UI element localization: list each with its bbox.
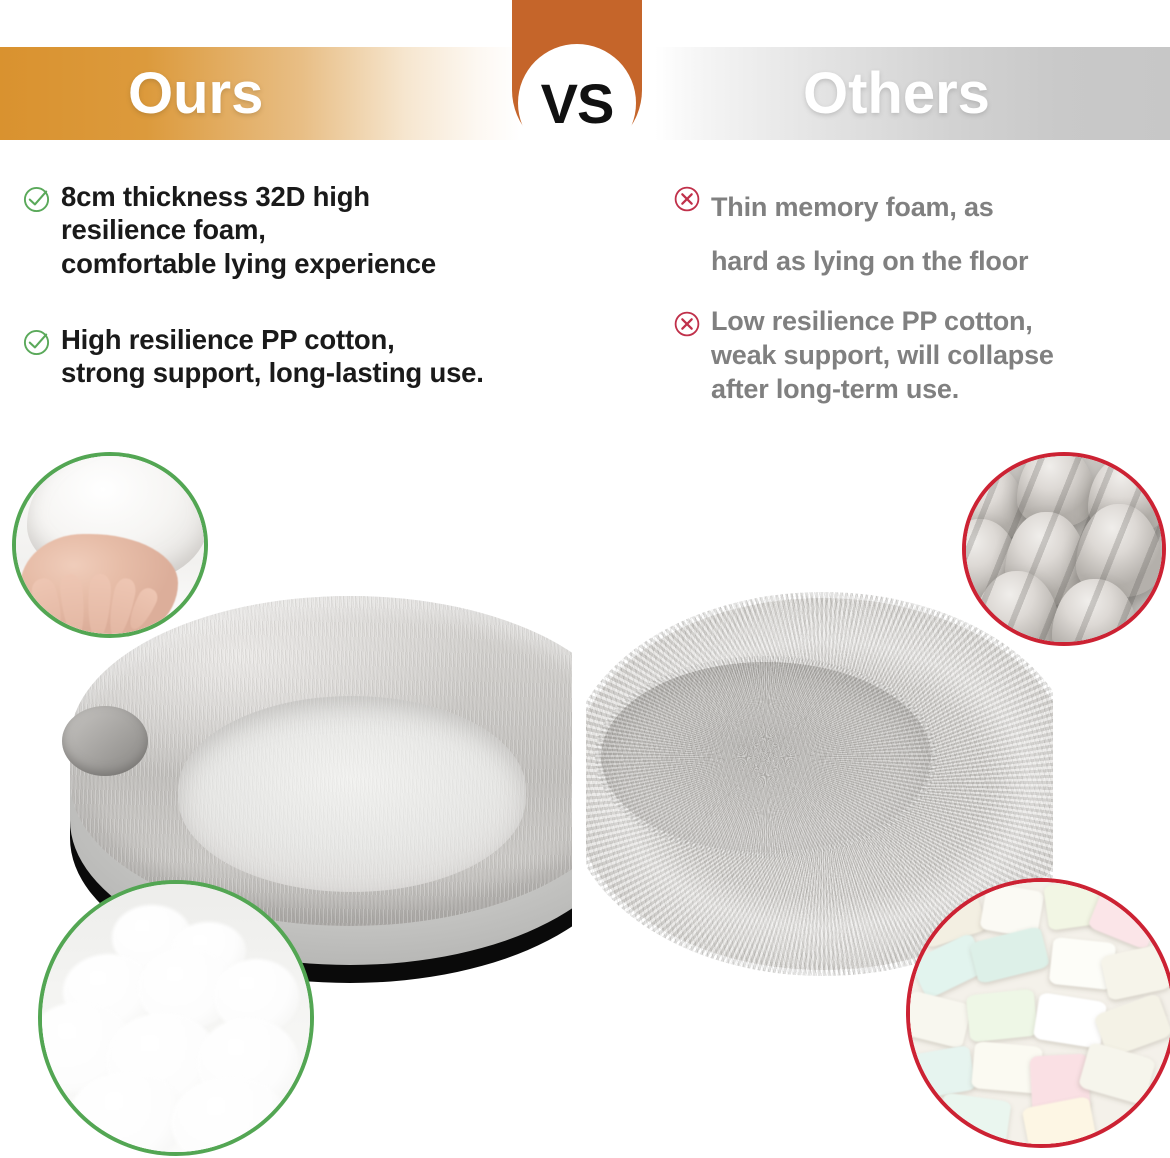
- ours-label: Ours: [128, 47, 263, 140]
- foam-chunk: [939, 1092, 1012, 1143]
- x-circle-icon: [672, 184, 702, 214]
- hand-shape: [20, 534, 178, 638]
- pros-list: 8cm thickness 32D high resilience foam, …: [22, 180, 642, 389]
- pro-bullet-2: High resilience PP cotton, strong suppor…: [22, 323, 642, 390]
- inset-pp-cotton-fluff: [38, 880, 314, 1156]
- check-circle-icon: [22, 327, 52, 357]
- con-bullet-1-text: Thin memory foam, as hard as lying on th…: [711, 180, 1028, 288]
- ours-banner: Ours: [0, 47, 520, 140]
- con-bullet-1: Thin memory foam, as hard as lying on th…: [672, 180, 1170, 288]
- inset-hand-pressing-foam: [12, 452, 208, 638]
- center-fur-texture: [595, 656, 937, 858]
- inset-egg-crate-foam: [962, 452, 1166, 646]
- bed-cushion-center: [178, 696, 526, 892]
- others-banner: Others: [655, 47, 1170, 140]
- finger: [86, 573, 112, 638]
- cons-spacer: [672, 288, 1170, 305]
- inset-foam-chunks: [906, 878, 1170, 1148]
- finger: [59, 573, 88, 638]
- cotton-puff: [69, 1072, 187, 1156]
- check-circle-icon: [22, 184, 52, 214]
- others-label: Others: [803, 47, 990, 140]
- product-comparison-infographic: Ours Others VS 8cm thickness 32D high re…: [0, 0, 1170, 1158]
- bolster-end-knot: [62, 706, 148, 776]
- cons-list: Thin memory foam, as hard as lying on th…: [672, 180, 1170, 406]
- pro-bullet-2-text: High resilience PP cotton, strong suppor…: [61, 323, 484, 390]
- con-bullet-2: Low resilience PP cotton, weak support, …: [672, 305, 1170, 406]
- pros-spacer: [22, 280, 642, 323]
- cushion-texture: [178, 696, 526, 892]
- con-bullet-2-text: Low resilience PP cotton, weak support, …: [711, 305, 1054, 406]
- pro-bullet-1-text: 8cm thickness 32D high resilience foam, …: [61, 180, 436, 280]
- vs-label: VS: [541, 76, 614, 132]
- photo-divider: [572, 560, 586, 1000]
- cotton-puff: [171, 1077, 289, 1156]
- x-circle-icon: [672, 309, 702, 339]
- vs-badge: VS: [518, 44, 636, 162]
- foam-chunk: [965, 989, 1038, 1043]
- collapsed-center: [601, 662, 931, 852]
- eggcrate-shadows: [966, 456, 1162, 642]
- pro-bullet-1: 8cm thickness 32D high resilience foam, …: [22, 180, 642, 280]
